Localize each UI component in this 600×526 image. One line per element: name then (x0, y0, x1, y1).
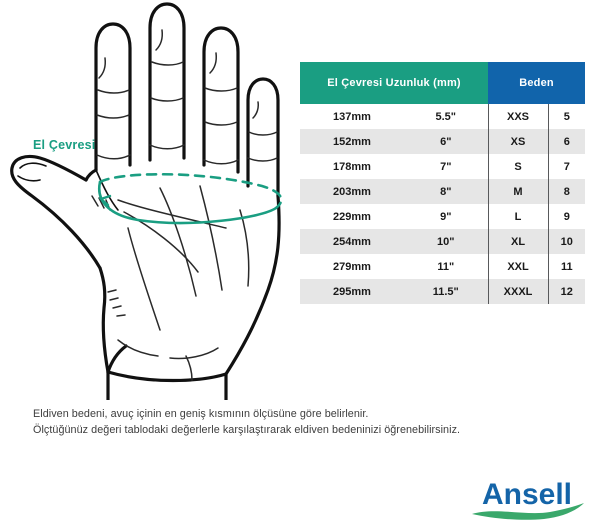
table-row: 295mm 11.5" XXXL 12 (300, 279, 585, 304)
cell-size: XXL (488, 254, 548, 279)
table-row: 137mm 5.5" XXS 5 (300, 104, 585, 129)
ansell-logo: Ansell (466, 474, 588, 522)
cell-size: XL (488, 229, 548, 254)
cell-size: XXXL (488, 279, 548, 304)
cell-num: 8 (548, 179, 585, 204)
table-row: 178mm 7" S 7 (300, 154, 585, 179)
cell-num: 11 (548, 254, 585, 279)
cell-mm: 137mm (300, 104, 404, 129)
cell-inch: 10" (404, 229, 488, 254)
cell-inch: 5.5" (404, 104, 488, 129)
cell-inch: 7" (404, 154, 488, 179)
cell-num: 12 (548, 279, 585, 304)
cell-mm: 178mm (300, 154, 404, 179)
cell-mm: 203mm (300, 179, 404, 204)
cell-size: M (488, 179, 548, 204)
cell-mm: 254mm (300, 229, 404, 254)
cell-num: 6 (548, 129, 585, 154)
table-header-row: El Çevresi Uzunluk (mm) Beden (300, 62, 585, 104)
table-body: 137mm 5.5" XXS 5 152mm 6" XS 6 178mm 7" … (300, 104, 585, 304)
ansell-logo-icon: Ansell (466, 474, 588, 522)
cell-inch: 11.5" (404, 279, 488, 304)
table-row: 152mm 6" XS 6 (300, 129, 585, 154)
cell-inch: 11" (404, 254, 488, 279)
header-size: Beden (488, 62, 585, 104)
hand-illustration: El Çevresi (0, 0, 300, 400)
cell-mm: 295mm (300, 279, 404, 304)
hand-circumference-label: El Çevresi (33, 138, 95, 152)
cell-num: 10 (548, 229, 585, 254)
instructions-text: Eldiven bedeni, avuç içinin en geniş kıs… (33, 406, 578, 438)
table-row: 203mm 8" M 8 (300, 179, 585, 204)
cell-num: 9 (548, 204, 585, 229)
cell-mm: 279mm (300, 254, 404, 279)
table-row: 229mm 9" L 9 (300, 204, 585, 229)
cell-inch: 8" (404, 179, 488, 204)
cell-num: 5 (548, 104, 585, 129)
cell-size: XS (488, 129, 548, 154)
header-hand-circumference: El Çevresi Uzunluk (mm) (300, 62, 488, 104)
cell-size: XXS (488, 104, 548, 129)
cell-num: 7 (548, 154, 585, 179)
table-row: 279mm 11" XXL 11 (300, 254, 585, 279)
cell-size: S (488, 154, 548, 179)
instructions-line-2: Ölçtüğünüz değeri tablodaki değerlerle k… (33, 422, 578, 438)
cell-inch: 6" (404, 129, 488, 154)
cell-size: L (488, 204, 548, 229)
cell-mm: 229mm (300, 204, 404, 229)
glove-size-table: El Çevresi Uzunluk (mm) Beden 137mm 5.5"… (300, 62, 585, 304)
instructions-line-1: Eldiven bedeni, avuç içinin en geniş kıs… (33, 406, 578, 422)
cell-mm: 152mm (300, 129, 404, 154)
table-row: 254mm 10" XL 10 (300, 229, 585, 254)
open-hand-palm-icon (0, 0, 300, 400)
cell-inch: 9" (404, 204, 488, 229)
ansell-wordmark: Ansell (482, 478, 572, 511)
